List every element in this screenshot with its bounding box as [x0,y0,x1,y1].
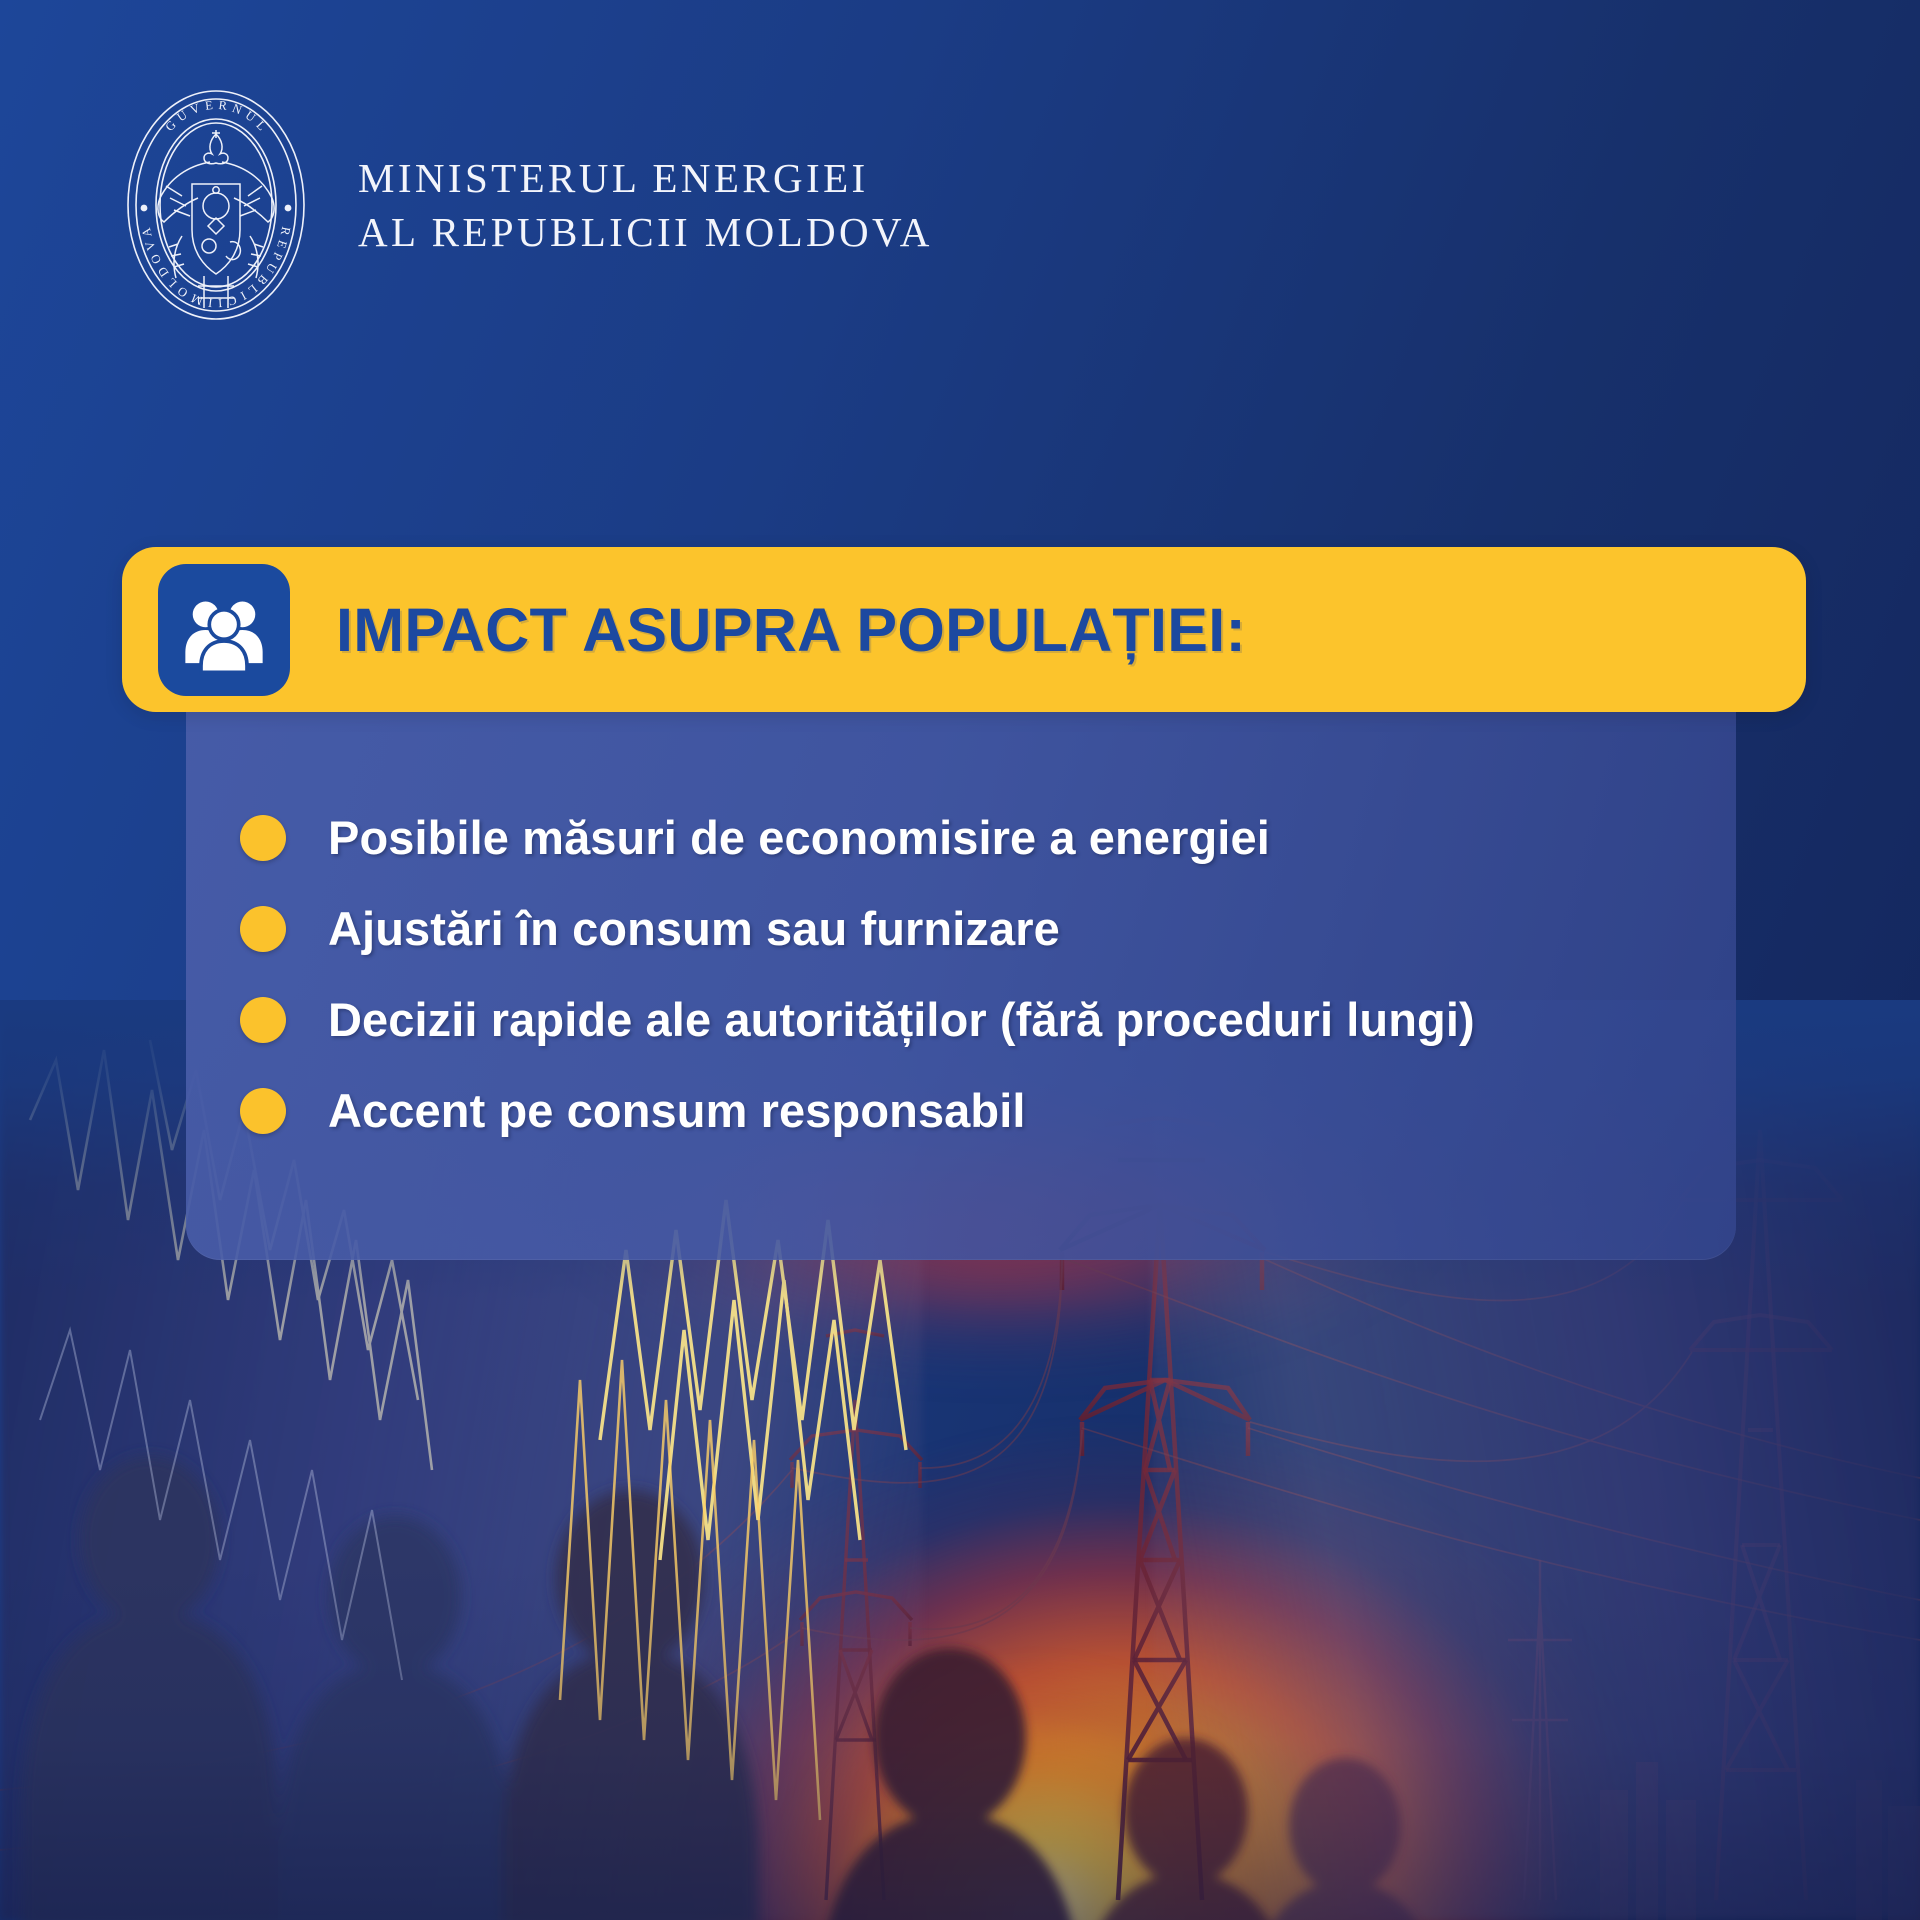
bullet-dot-icon [240,815,286,861]
list-item-label: Decizii rapide ale autorităților (fără p… [328,992,1475,1047]
bullet-dot-icon [240,1088,286,1134]
list-item-label: Ajustări în consum sau furnizare [328,901,1060,956]
ministry-line-2: AL REPUBLICII MOLDOVA [358,205,933,259]
header: G U V E R N U L R E P U B L I C I I M O … [118,86,933,324]
bullet-list: Posibile măsuri de economisire a energie… [186,792,1736,1156]
list-item-label: Accent pe consum responsabil [328,1083,1026,1138]
list-item: Ajustări în consum sau furnizare [186,883,1736,974]
list-item-label: Posibile măsuri de economisire a energie… [328,810,1270,865]
photo-bottom-vignette [0,1560,1920,1920]
list-item: Posibile măsuri de economisire a energie… [186,792,1736,883]
bullet-dot-icon [240,997,286,1043]
impact-list-panel: Posibile măsuri de economisire a energie… [186,700,1736,1260]
list-item: Decizii rapide ale autorităților (fără p… [186,974,1736,1065]
bullet-dot-icon [240,906,286,952]
people-group-glyph [178,584,270,676]
people-group-icon [158,564,290,696]
ministry-name: MINISTERUL ENERGIEI AL REPUBLICII MOLDOV… [358,151,933,259]
list-item: Accent pe consum responsabil [186,1065,1736,1156]
impact-banner: IMPACT ASUPRA POPULAȚIEI: [122,547,1806,712]
moldova-coat-of-arms-icon: G U V E R N U L R E P U B L I C I I M O … [118,86,314,324]
poster-canvas: G U V E R N U L R E P U B L I C I I M O … [0,0,1920,1920]
banner-title: IMPACT ASUPRA POPULAȚIEI: [336,595,1246,665]
ministry-line-1: MINISTERUL ENERGIEI [358,151,933,205]
svg-text:G U V E R N U L: G U V E R N U L [163,98,270,134]
